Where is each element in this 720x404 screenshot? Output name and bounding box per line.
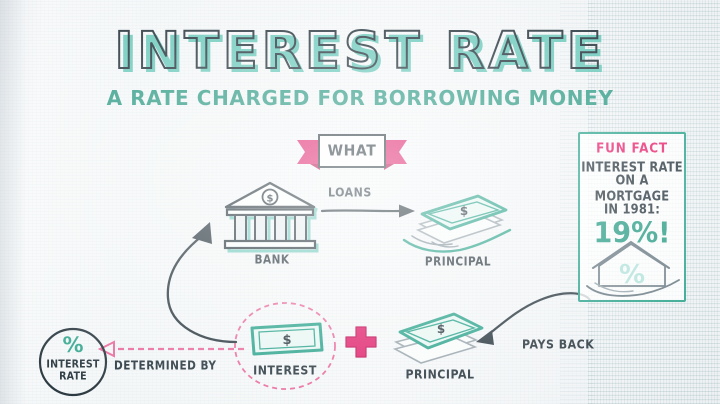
what-banner: WHAT: [296, 134, 408, 174]
fun-fact-line-2: ON A MORTGAGE: [580, 172, 684, 203]
interest-bill-symbol: $: [282, 333, 291, 348]
plus-icon: [344, 325, 378, 359]
fun-fact-title: FUN FACT: [580, 140, 684, 155]
pays-back-label: PAYS BACK: [522, 337, 594, 352]
interest-label: INTEREST: [232, 363, 338, 378]
page-title: INTEREST RATE: [0, 26, 720, 77]
principal-bottom-node: $ PRINCIPAL: [388, 308, 492, 390]
principal-bottom-label: PRINCIPAL: [388, 367, 492, 382]
fun-fact-line-3: IN 1981:: [580, 201, 684, 217]
infographic-canvas: INTEREST RATE A RATE CHARGED FOR BORROWI…: [0, 0, 720, 404]
fun-fact-card: FUN FACT INTEREST RATE ON A MORTGAGE IN …: [578, 132, 686, 302]
interest-rate-badge: % INTEREST RATE: [38, 327, 108, 397]
what-box: WHAT: [318, 134, 386, 168]
principal-top-label: PRINCIPAL: [402, 255, 514, 269]
return-arrow: [140, 214, 252, 348]
what-label: WHAT: [328, 142, 377, 160]
plus-node: [344, 325, 378, 359]
money-stack-icon: $: [388, 308, 492, 372]
interest-rate-badge-line1: INTEREST: [38, 358, 108, 370]
principal-bottom-bill-symbol: $: [437, 322, 445, 336]
interest-rate-badge-line2: RATE: [38, 370, 108, 382]
determined-by-label: DETERMINED BY: [114, 359, 217, 373]
fun-fact-body: INTEREST RATE ON A MORTGAGE IN 1981:: [580, 160, 684, 216]
principal-top-bill-symbol: $: [460, 204, 468, 218]
percent-symbol: %: [38, 333, 108, 357]
principal-top-node: $ PRINCIPAL: [402, 184, 514, 276]
house-percent-symbol: %: [619, 260, 645, 290]
page-subtitle: A RATE CHARGED FOR BORROWING MONEY: [0, 86, 720, 110]
house-with-percent-on-hand-icon: %: [581, 238, 685, 300]
money-stack-on-hand-icon: $: [402, 184, 514, 262]
bank-coin-symbol: $: [267, 194, 274, 205]
loans-label: LOANS: [328, 185, 372, 200]
curved-arrow-up-icon: [140, 214, 252, 348]
single-bill-icon: $: [248, 320, 326, 360]
